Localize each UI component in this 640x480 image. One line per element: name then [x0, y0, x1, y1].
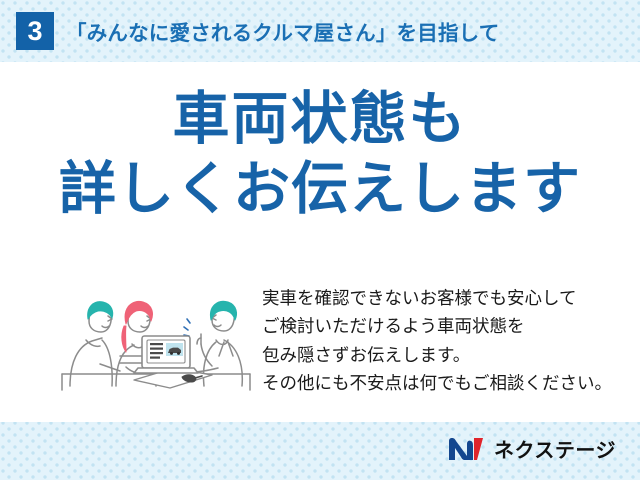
female-customer-hair-side [122, 326, 126, 352]
header-bar: 3 「みんなに愛されるクルマ屋さん」を目指して [0, 0, 640, 62]
footer-bar: ネクステージ [0, 422, 640, 480]
advertisement-banner: 3 「みんなに愛されるクルマ屋さん」を目指して 車両状態も 詳しくお伝えします [0, 0, 640, 480]
car-thumbnail-icon [166, 343, 183, 356]
section-number-badge: 3 [16, 12, 54, 50]
brand-logo: ネクステージ [447, 434, 616, 463]
speech-marks-icon [184, 319, 190, 336]
body-line-4: その他にも不安点は何でもご相談ください。 [262, 369, 622, 397]
body-copy: 実車を確認できないお客様でも安心して ご検討いただけるよう車両状態を 包み隠さず… [262, 284, 622, 397]
content-panel: 車両状態も 詳しくお伝えします [0, 62, 640, 422]
consultation-illustration [56, 274, 256, 392]
brand-logo-text: ネクステージ [494, 434, 616, 463]
laptop-icon [134, 336, 198, 373]
body-line-1: 実車を確認できないお客様でも安心して [262, 284, 622, 312]
body-line-3: 包み隠さずお伝えします。 [262, 341, 622, 369]
staff-hair [210, 301, 236, 320]
headline: 車両状態も 詳しくお伝えします [0, 88, 640, 222]
body-line-2: ご検討いただけるよう車両状態を [262, 312, 622, 340]
header-title: 「みんなに愛されるクルマ屋さん」を目指して [66, 16, 499, 46]
headline-line-2: 詳しくお伝えします [0, 158, 640, 222]
headline-line-1: 車両状態も [0, 88, 640, 152]
n-logo-icon [447, 436, 487, 462]
